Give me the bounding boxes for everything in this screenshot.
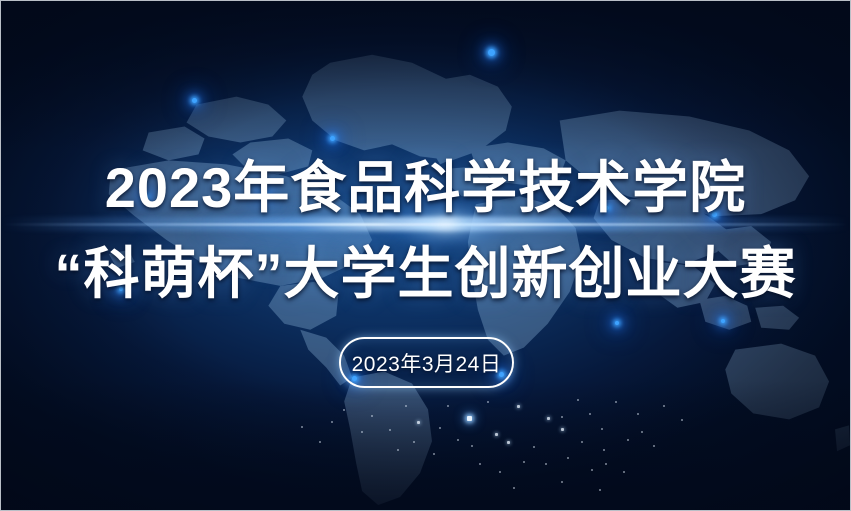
date-badge: 2023年3月24日	[339, 337, 514, 388]
event-banner: 2023年食品科学技术学院 “科萌杯”大学生创新创业大赛 2023年3月24日	[0, 0, 851, 511]
banner-content: 2023年食品科学技术学院 “科萌杯”大学生创新创业大赛 2023年3月24日	[1, 1, 850, 510]
date-badge-label: 2023年3月24日	[352, 348, 502, 378]
title-line-1: 2023年食品科学技术学院	[1, 143, 850, 224]
title-line-2: “科萌杯”大学生创新创业大赛	[1, 229, 850, 310]
